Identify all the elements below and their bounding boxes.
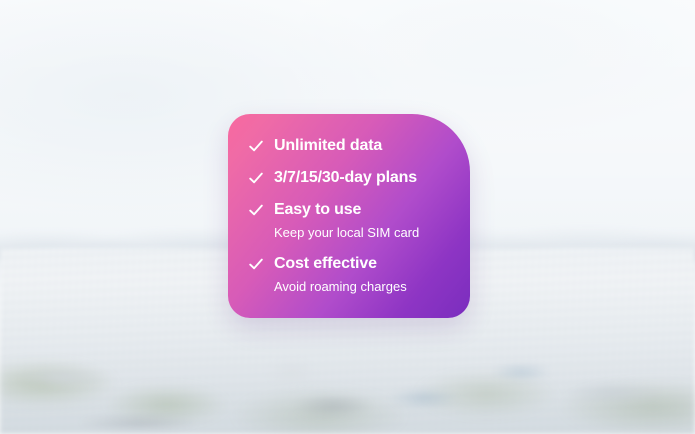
check-icon <box>248 201 264 219</box>
feature-item-easy-to-use: Easy to use Keep your local SIM card <box>248 200 452 241</box>
screenshot-root: Unlimited data 3/7/15/30-day plans <box>0 0 695 434</box>
feature-item-cost-effective: Cost effective Avoid roaming charges <box>248 254 452 295</box>
check-icon <box>248 169 264 187</box>
feature-item-plans: 3/7/15/30-day plans <box>248 168 452 187</box>
benefits-card: Unlimited data 3/7/15/30-day plans <box>228 114 470 318</box>
feature-title: 3/7/15/30-day plans <box>274 168 417 187</box>
feature-item-unlimited-data: Unlimited data <box>248 136 452 155</box>
feature-text-group: Unlimited data <box>274 136 382 155</box>
check-icon <box>248 255 264 273</box>
feature-title: Unlimited data <box>274 136 382 155</box>
feature-text-group: 3/7/15/30-day plans <box>274 168 417 187</box>
feature-title: Cost effective <box>274 254 407 273</box>
feature-text-group: Cost effective Avoid roaming charges <box>274 254 407 295</box>
feature-subtitle: Avoid roaming charges <box>274 278 407 295</box>
benefits-card-content: Unlimited data 3/7/15/30-day plans <box>228 114 470 318</box>
check-icon <box>248 137 264 155</box>
feature-text-group: Easy to use Keep your local SIM card <box>274 200 419 241</box>
feature-subtitle: Keep your local SIM card <box>274 224 419 241</box>
feature-title: Easy to use <box>274 200 419 219</box>
